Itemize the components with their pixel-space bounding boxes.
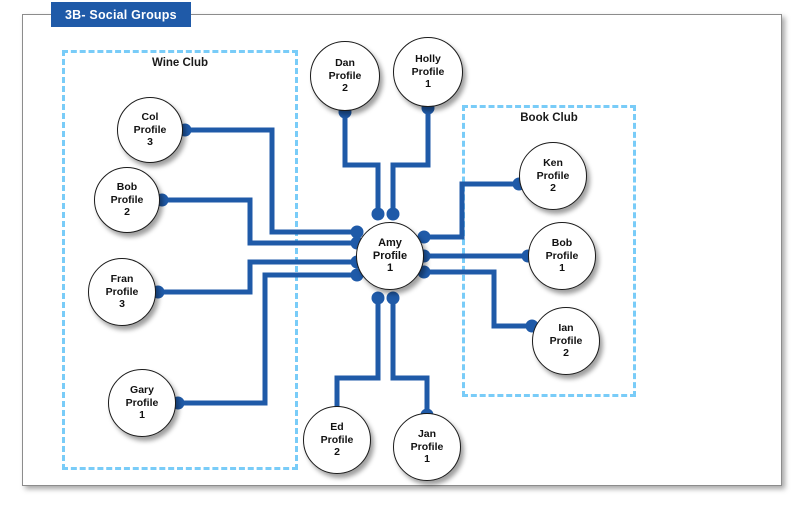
profile-node-gary[interactable]: GaryProfile1 (108, 369, 176, 437)
profile-node-ian[interactable]: IanProfile2 (532, 307, 600, 375)
profile-node-line-1: Bob (552, 237, 572, 250)
profile-node-line-1: Ed (330, 421, 343, 434)
profile-node-bob1[interactable]: BobProfile1 (528, 222, 596, 290)
profile-node-line-3: 3 (119, 298, 125, 311)
profile-node-line-3: 2 (124, 206, 130, 219)
profile-node-line-1: Holly (415, 53, 441, 66)
profile-node-holly[interactable]: HollyProfile1 (393, 37, 463, 107)
profile-node-line-2: Profile (412, 66, 445, 79)
profile-node-line-2: Profile (321, 434, 354, 447)
profile-node-line-1: Ian (558, 322, 573, 335)
profile-node-line-1: Col (142, 111, 159, 124)
profile-node-line-3: 1 (559, 262, 565, 275)
profile-node-line-2: Profile (329, 70, 362, 83)
profile-node-line-1: Dan (335, 57, 355, 70)
profile-node-fran[interactable]: FranProfile3 (88, 258, 156, 326)
profile-node-ed[interactable]: EdProfile2 (303, 406, 371, 474)
profile-node-line-1: Fran (111, 273, 134, 286)
profile-node-line-3: 2 (563, 347, 569, 360)
profile-node-line-3: 2 (342, 82, 348, 95)
profile-node-line-2: Profile (126, 397, 159, 410)
profile-node-line-2: Profile (134, 124, 167, 137)
profile-node-line-1: Ken (543, 157, 563, 170)
profile-node-line-3: 1 (139, 409, 145, 422)
profile-node-line-2: Profile (550, 335, 583, 348)
profile-node-line-1: Gary (130, 384, 154, 397)
profile-node-jan[interactable]: JanProfile1 (393, 413, 461, 481)
profile-node-line-2: Profile (411, 441, 444, 454)
profile-node-amy[interactable]: AmyProfile1 (356, 222, 424, 290)
profile-node-line-3: 3 (147, 136, 153, 149)
profile-node-line-3: 2 (334, 446, 340, 459)
diagram-canvas: 3B- Social Groups Wine ClubBook Club Col… (0, 0, 800, 520)
profile-node-line-2: Profile (106, 286, 139, 299)
profile-node-dan[interactable]: DanProfile2 (310, 41, 380, 111)
profile-node-line-3: 1 (425, 78, 431, 91)
profile-node-ken[interactable]: KenProfile2 (519, 142, 587, 210)
profile-node-line-2: Profile (546, 250, 579, 263)
profile-node-line-1: Bob (117, 181, 137, 194)
profile-node-line-1: Amy (378, 237, 402, 250)
group-label-book-club: Book Club (465, 112, 633, 124)
profile-node-line-2: Profile (373, 250, 407, 263)
profile-node-line-3: 1 (387, 262, 393, 275)
profile-node-line-3: 2 (550, 182, 556, 195)
profile-node-bob2[interactable]: BobProfile2 (94, 167, 160, 233)
page-title: 3B- Social Groups (51, 2, 191, 27)
profile-node-line-2: Profile (537, 170, 570, 183)
profile-node-col[interactable]: ColProfile3 (117, 97, 183, 163)
group-label-wine-club: Wine Club (65, 57, 295, 69)
profile-node-line-2: Profile (111, 194, 144, 207)
profile-node-line-3: 1 (424, 453, 430, 466)
group-box-wine-club: Wine Club (62, 50, 298, 470)
profile-node-line-1: Jan (418, 428, 436, 441)
